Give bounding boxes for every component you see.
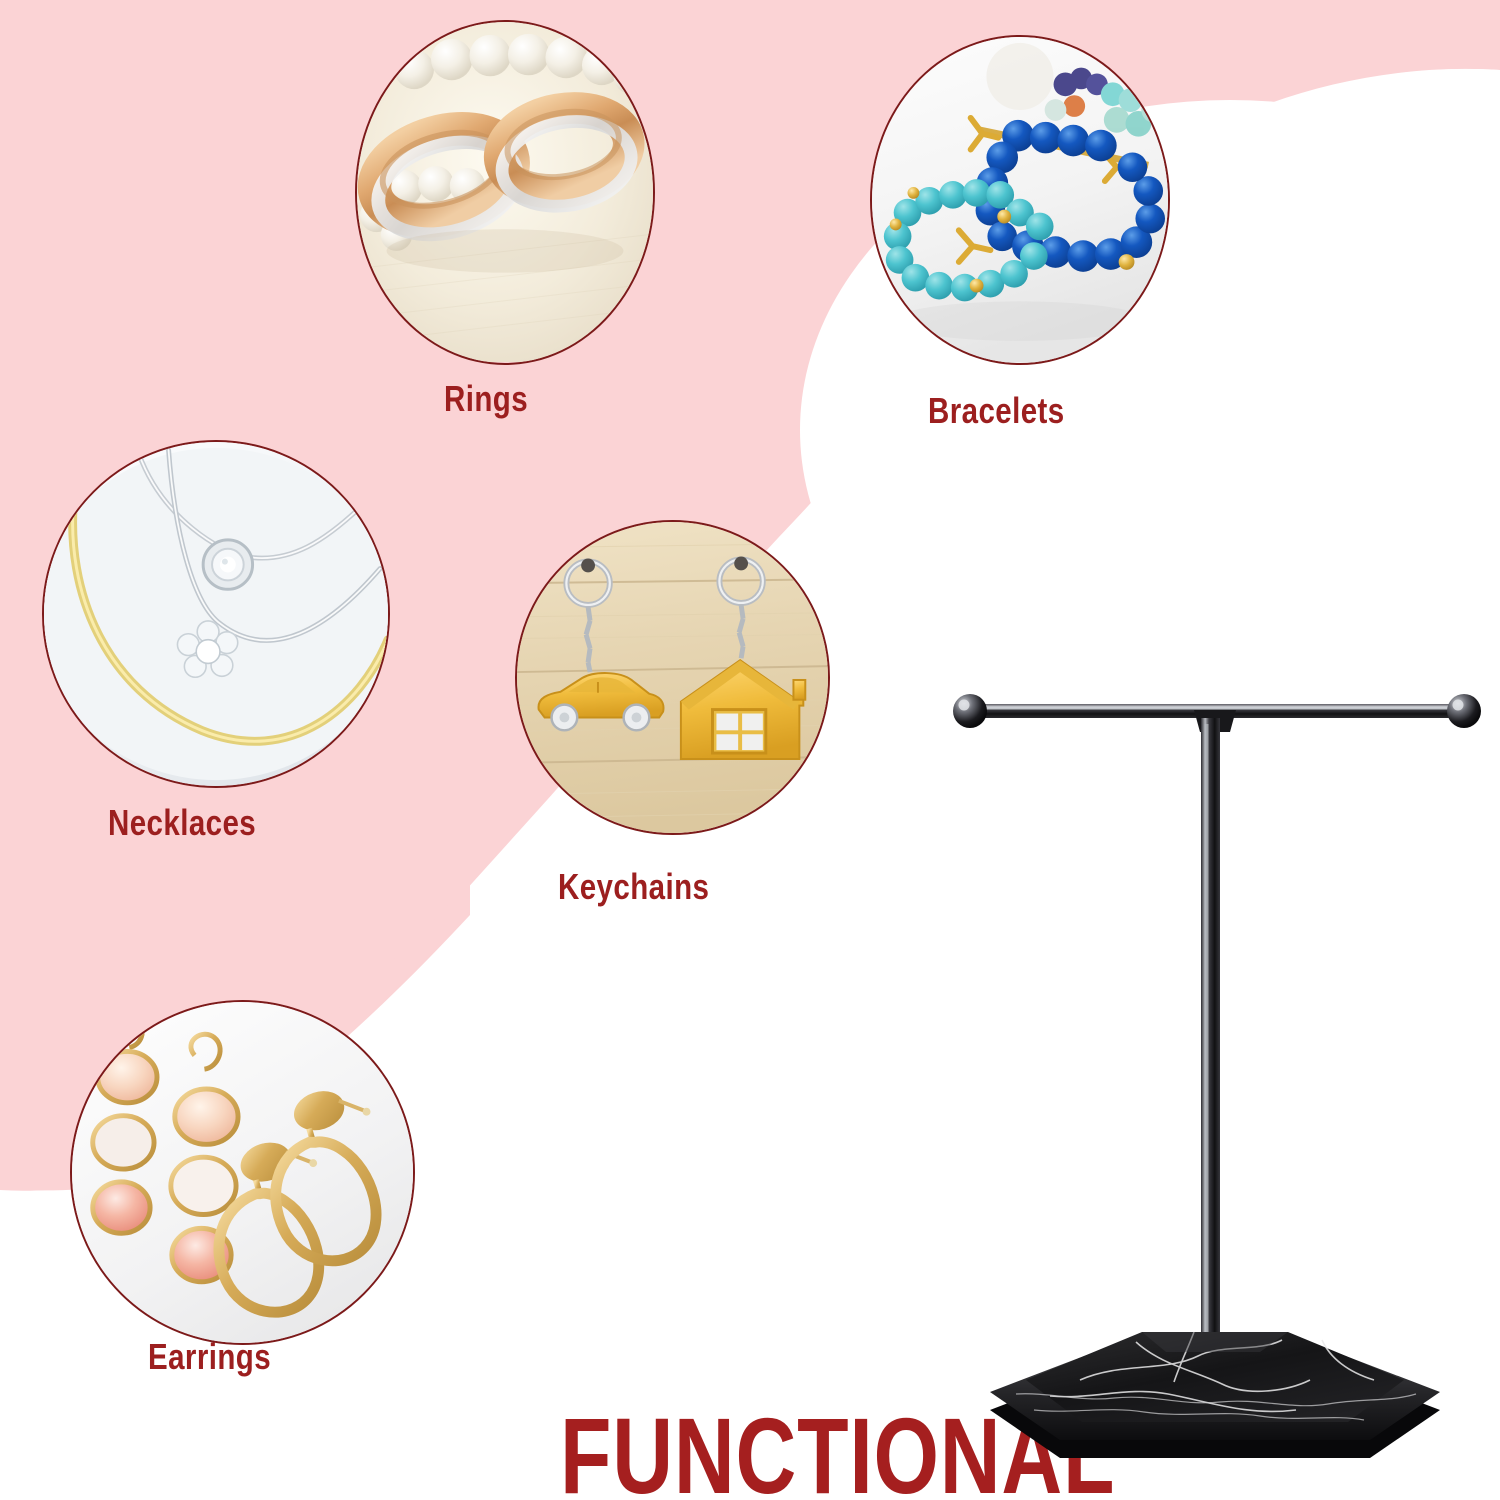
bracelets-label: Bracelets (928, 390, 1065, 432)
hexagonal-marble-base (990, 1328, 1440, 1458)
rings-label: Rings (444, 378, 528, 420)
bracelets-photo (872, 37, 1168, 363)
earrings-photo (72, 1002, 413, 1343)
rings-photo-circle[interactable] (355, 20, 655, 365)
left-ball-end (953, 694, 987, 728)
earrings-label: Earrings (148, 1336, 271, 1378)
necklaces-label: Necklaces (108, 802, 256, 844)
vertical-post (1201, 718, 1220, 1368)
necklaces-photo-circle[interactable] (42, 440, 390, 788)
jewelry-t-bar-stand (930, 680, 1500, 1470)
right-ball-end (1447, 694, 1481, 728)
bracelets-photo-circle[interactable] (870, 35, 1170, 365)
earrings-photo-circle[interactable] (70, 1000, 415, 1345)
t-stand-illustration (930, 680, 1500, 1470)
keychains-photo (517, 522, 828, 833)
rings-photo (357, 22, 653, 362)
keychains-label: Keychains (558, 866, 709, 908)
keychains-photo-circle[interactable] (515, 520, 830, 835)
necklaces-photo (44, 442, 388, 786)
infographic-canvas: Rings (0, 0, 1500, 1500)
